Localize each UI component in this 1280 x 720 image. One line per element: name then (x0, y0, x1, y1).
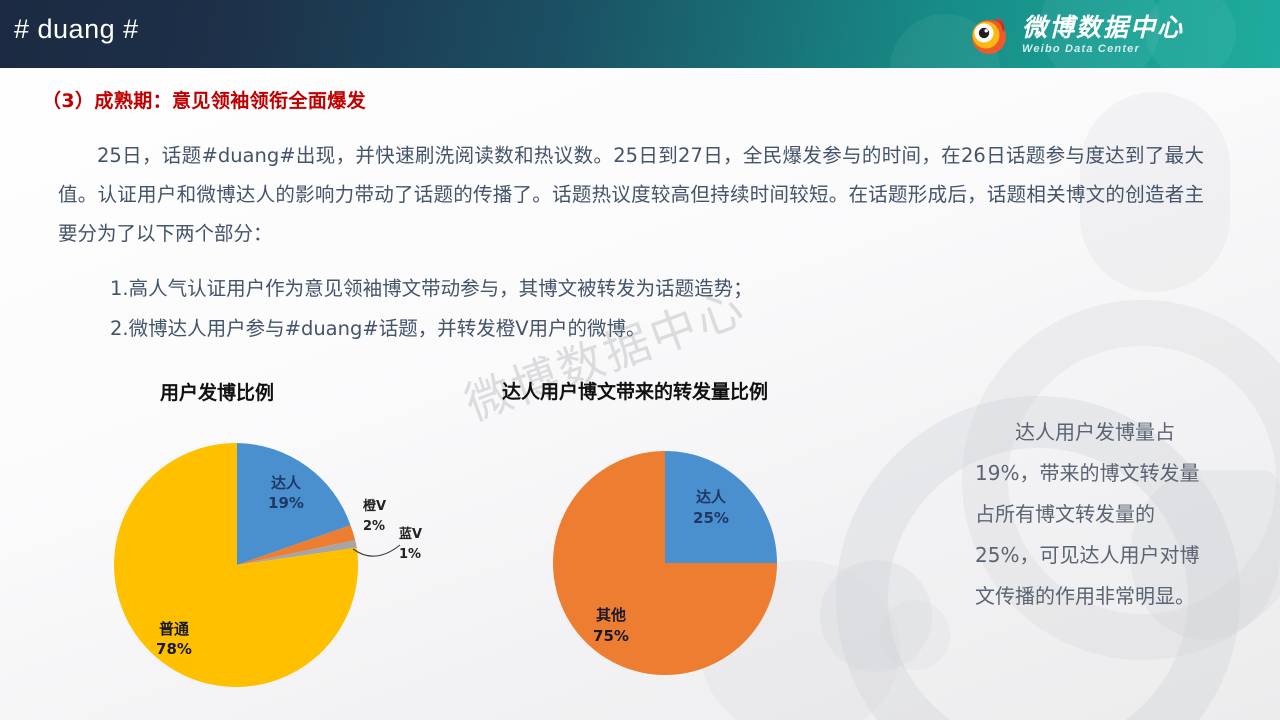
pie2-value-other: 75% (593, 627, 629, 645)
chart-title-user-post-ratio: 用户发博比例 (160, 378, 274, 405)
pie2-slice-daren (665, 451, 777, 563)
pie2-value-daren: 25% (693, 509, 729, 527)
pie1-value-orangev: 2% (363, 519, 385, 534)
pie-chart-user-post-ratio: 达人 19% 橙V 2% 蓝V 1% 普通 78% (100, 432, 430, 697)
chart-title-repost-ratio: 达人用户博文带来的转发量比例 (502, 377, 768, 404)
pie1-value-ordinary: 78% (156, 640, 192, 658)
logo-title-cn: 微博数据中心 (1022, 15, 1184, 40)
logo-text-block: 微博数据中心 Weibo Data Center (1022, 15, 1184, 55)
pie1-value-daren: 19% (268, 494, 304, 512)
background-weibo-eye-pupil (820, 560, 932, 672)
title-bar: # duang # 微博数据中心 Weibo Data Center (0, 0, 1280, 68)
pie1-label-orangev: 橙V (363, 498, 386, 514)
pie1-label-daren: 达人 (271, 474, 302, 492)
right-commentary-text: 达人用户发博量占19%，带来的博文转发量占所有博文转发量的25%，可见达人用户对… (975, 412, 1215, 617)
background-blob-c (880, 600, 950, 670)
weibo-eye-icon (966, 12, 1012, 58)
slide-canvas: # duang # 微博数据中心 Weibo Data Center （3）成熟… (0, 0, 1280, 720)
body-paragraph: 25日，话题#duang#出现，并快速刷洗阅读数和热议数。25日到27日，全民爆… (58, 136, 1204, 253)
pie1-label-ordinary: 普通 (159, 620, 189, 638)
pie-chart-repost-ratio: 达人 25% 其他 75% (548, 440, 793, 685)
pie1-leader-line-bluev (353, 545, 400, 556)
topic-hashtag: # duang # (14, 14, 139, 45)
pie2-label-daren: 达人 (696, 488, 727, 506)
section-title: （3）成熟期：意见领袖领衔全面爆发 (42, 86, 366, 113)
list-item-2: 2.微博达人用户参与#duang#话题，并转发橙V用户的微博。 (110, 312, 646, 341)
logo-title-en: Weibo Data Center (1022, 44, 1184, 55)
pie1-label-bluev: 蓝V (399, 526, 422, 542)
pie2-label-other: 其他 (596, 606, 626, 624)
list-item-1: 1.高人气认证用户作为意见领袖博文带动参与，其博文被转发为话题造势； (110, 272, 753, 301)
weibo-data-center-logo: 微博数据中心 Weibo Data Center (966, 9, 1184, 61)
pie1-value-bluev: 1% (399, 547, 421, 562)
